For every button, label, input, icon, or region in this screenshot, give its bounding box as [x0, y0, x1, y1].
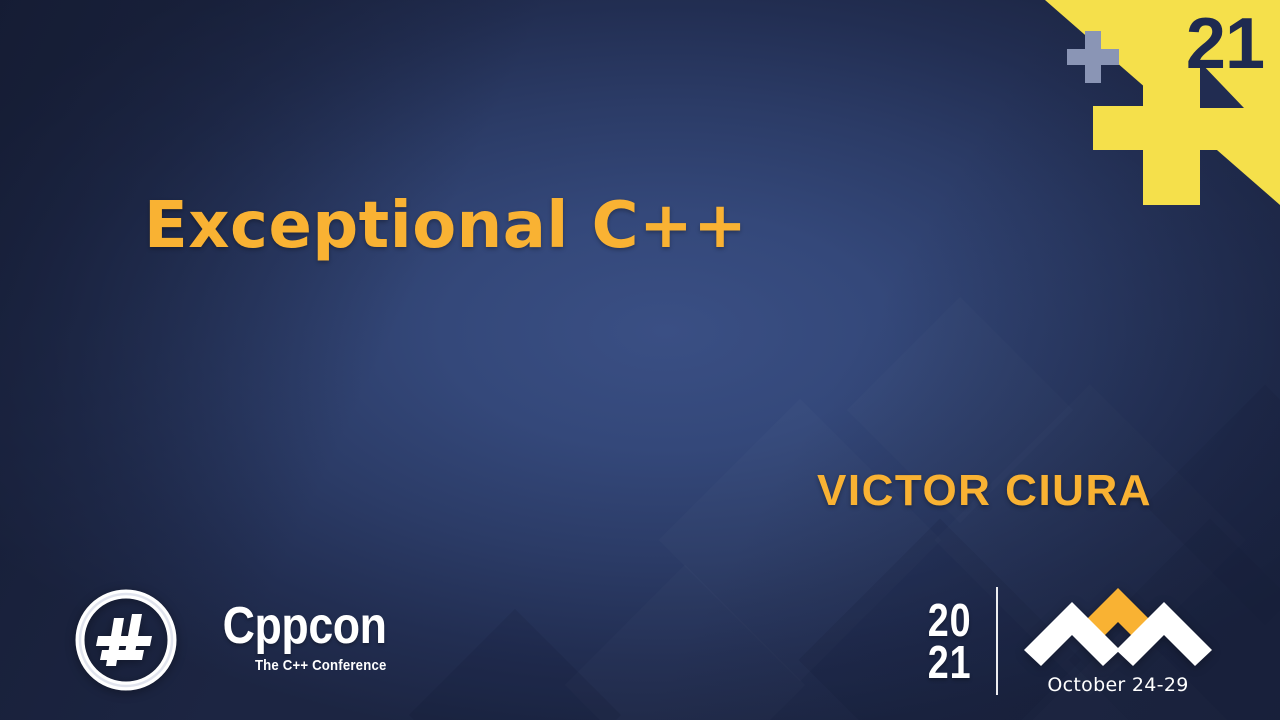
presentation-slide: 21 Exceptional C++ VICTOR CIURA Cppcon T… — [0, 0, 1280, 720]
year-top-label: 20 — [928, 599, 972, 641]
corner-plus-horizontal-bar — [1093, 106, 1233, 150]
conference-year: 20 21 — [923, 599, 996, 684]
cppcon-tagline: The C++ Conference — [255, 657, 387, 674]
page-title: Exceptional C++ — [144, 189, 747, 263]
speaker-name: VICTOR CIURA — [817, 466, 1152, 516]
mountains-block: October 24-29 — [1020, 586, 1216, 696]
corner-year-badge: 21 — [1045, 0, 1280, 205]
mountains-icon — [1020, 586, 1216, 666]
cppcon-logo: Cppcon The C++ Conference — [74, 588, 387, 692]
small-plus-icon — [1067, 31, 1119, 83]
cppcon-emblem-icon — [74, 588, 178, 692]
cppcon-wordmark: Cppcon The C++ Conference — [196, 602, 387, 677]
conference-date: October 24-29 — [1047, 674, 1188, 696]
year-bottom-label: 21 — [928, 641, 972, 683]
corner-year-label: 21 — [1186, 8, 1264, 80]
conference-badge: 20 21 October 24-29 — [923, 586, 1216, 696]
cppcon-name-label: Cppcon — [223, 602, 387, 651]
badge-divider — [996, 587, 998, 695]
